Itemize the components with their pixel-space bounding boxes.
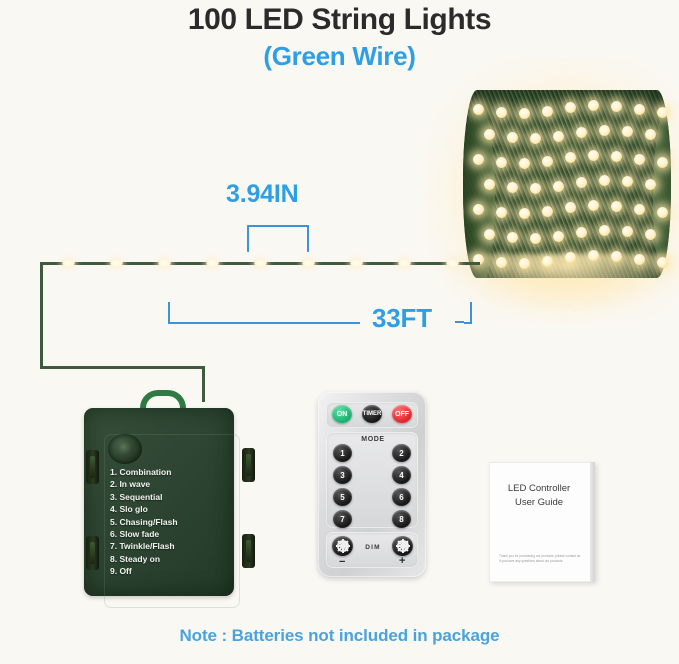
coil-led [484,179,495,190]
coil-led [484,229,495,240]
coil-led [542,156,553,167]
remote-brightness-up-button[interactable] [392,536,413,556]
coil-led [542,106,553,117]
remote-on-button[interactable]: ON [332,405,352,423]
coil-led [611,151,622,162]
product-infographic: 100 LED String Lights (Green Wire) 3.94I… [0,0,679,664]
coil-led [473,104,484,115]
coil-led [473,154,484,165]
remote-mode-button-3[interactable]: 3 [333,466,352,484]
page-title: 100 LED String Lights [0,2,679,38]
remote-mode-button-1[interactable]: 1 [333,444,352,462]
remote-timer-button[interactable]: TIMER [362,405,382,423]
wire-bottom-horizontal [40,366,205,369]
coil-led [519,208,530,219]
user-guide-title: LED Controller User Guide [489,482,589,510]
remote-mode-button-5[interactable]: 5 [333,488,352,506]
coil-led [553,131,564,142]
coil-led [530,233,541,244]
coil-led [634,204,645,215]
battery-box-mode-item: 8. Steady on [110,553,232,565]
remote-mode-button-8[interactable]: 8 [392,510,411,528]
battery-box-mode-item: 4. Slo glo [110,503,232,515]
battery-box-mode-item: 5. Chasing/Flash [110,516,232,528]
wire-led [350,260,363,267]
dimension-total-length: 33FT [372,303,432,334]
bracket-total-length-left [168,302,360,324]
battery-box-mode-item: 1. Combination [110,466,232,478]
coil-led [530,133,541,144]
clip-strip [246,540,251,562]
battery-box-clip-left-bottom [86,536,99,570]
clip-strip [246,454,251,476]
battery-box-mode-item: 2. In wave [110,478,232,490]
remote-off-button[interactable]: OFF [392,405,412,423]
remote-mode-button-7[interactable]: 7 [333,510,352,528]
battery-box-mode-item: 3. Sequential [110,491,232,503]
coil-led [519,158,530,169]
led-coil [455,78,677,290]
clip-strip [90,456,95,478]
coil-led [588,200,599,211]
coil-led [553,231,564,242]
remote-mode-button-6[interactable]: 6 [392,488,411,506]
footer-note: Note : Batteries not included in package [0,626,679,646]
coil-led [599,125,610,136]
sun-icon [337,540,349,552]
coil-led [622,226,633,237]
coil-led [611,251,622,262]
coil-led [634,154,645,165]
bracket-led-spacing [247,225,309,252]
remote-mode-label: MODE [358,436,388,443]
coil-led [519,108,530,119]
coil-led [530,183,541,194]
wire-led [158,260,171,267]
user-guide-booklet: LED Controller User Guide Thank you for … [489,462,595,582]
bracket-total-length-right [464,302,472,324]
remote-dim-label: DIM [358,544,388,551]
wire-led [110,260,123,267]
wire-led [62,260,75,267]
coil-led [599,225,610,236]
battery-box-mode-item: 7. Twinkle/Flash [110,540,232,552]
coil-led [588,250,599,261]
coil-led [645,179,656,190]
coil-led [634,104,645,115]
battery-box-clip-right-top [242,448,255,482]
sun-icon [397,540,409,552]
bracket-total-length-right-line [455,321,464,323]
remote-minus-label: − [339,556,345,568]
coil-led [588,100,599,111]
battery-box-dial-inner [117,442,133,456]
user-guide-title-line2: User Guide [489,496,589,510]
coil-led [588,150,599,161]
wire-led [206,260,219,267]
wire-left-vertical [40,262,43,369]
remote-mode-button-2[interactable]: 2 [392,444,411,462]
battery-box-clip-right-bottom [242,534,255,568]
coil-led [622,126,633,137]
battery-box-mode-item: 9. Off [110,565,232,577]
coil-cap-right [653,102,671,278]
battery-box-dial [108,434,142,464]
user-guide-spine [590,462,595,582]
wire-led [446,260,459,267]
remote-mode-button-4[interactable]: 4 [392,466,411,484]
remote-control: ON TIMER OFF MODE 13572468 DIM − + [318,392,426,577]
coil-led [634,254,645,265]
battery-box: 1. Combination2. In wave3. Sequential4. … [72,390,257,605]
user-guide-fine-print: Thank you for purchasing our products, p… [499,554,581,563]
coil-led [519,258,530,269]
coil-led [611,201,622,212]
coil-led [553,181,564,192]
remote-brightness-down-button[interactable] [332,536,353,556]
remote-plus-label: + [399,555,405,567]
wire-led [302,260,315,267]
coil-led [622,176,633,187]
battery-box-clip-left-top [86,450,99,484]
coil-led [542,256,553,267]
coil-led [542,206,553,217]
coil-led [599,175,610,186]
clip-strip [90,542,95,564]
dimension-led-spacing: 3.94IN [226,180,298,209]
user-guide-title-line1: LED Controller [489,482,589,496]
coil-led [484,129,495,140]
coil-led [645,229,656,240]
coil-led [611,101,622,112]
coil-led [645,129,656,140]
battery-box-mode-list: 1. Combination2. In wave3. Sequential4. … [110,466,232,578]
battery-box-body: 1. Combination2. In wave3. Sequential4. … [84,408,234,596]
wire-led [398,260,411,267]
coil-led [473,204,484,215]
battery-box-mode-item: 6. Slow fade [110,528,232,540]
wire-led [254,260,267,267]
